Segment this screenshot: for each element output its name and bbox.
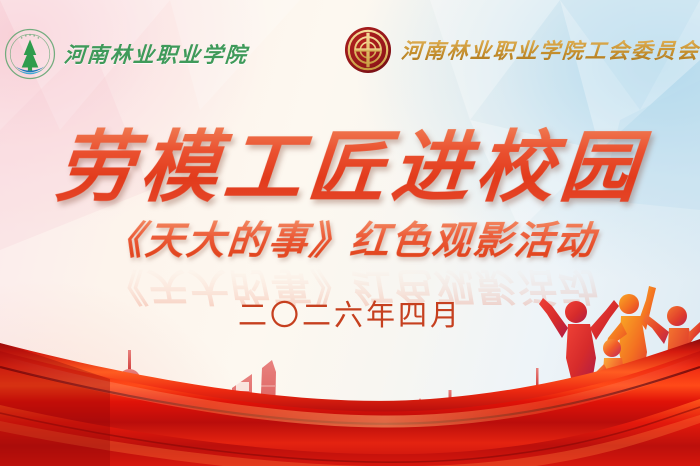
school-crest-icon — [4, 28, 56, 80]
header: 河南林业职业学院 — [0, 0, 700, 96]
brand-left: 河南林业职业学院 — [4, 28, 248, 80]
trade-union-emblem-icon — [344, 26, 392, 74]
brand-right: 河南林业职业学院工会委员会 — [344, 26, 700, 74]
school-name-label: 河南林业职业学院 — [63, 39, 249, 69]
city-skyline-silhouette — [0, 316, 700, 466]
union-name-label: 河南林业职业学院工会委员会 — [400, 35, 700, 65]
poster-canvas: 河南林业职业学院 — [0, 0, 700, 466]
sub-title: 《天大的事》红色观影活动 — [0, 219, 700, 265]
event-date: 二〇二六年四月 — [0, 297, 700, 333]
main-title: 劳模工匠进校园 — [0, 126, 700, 210]
